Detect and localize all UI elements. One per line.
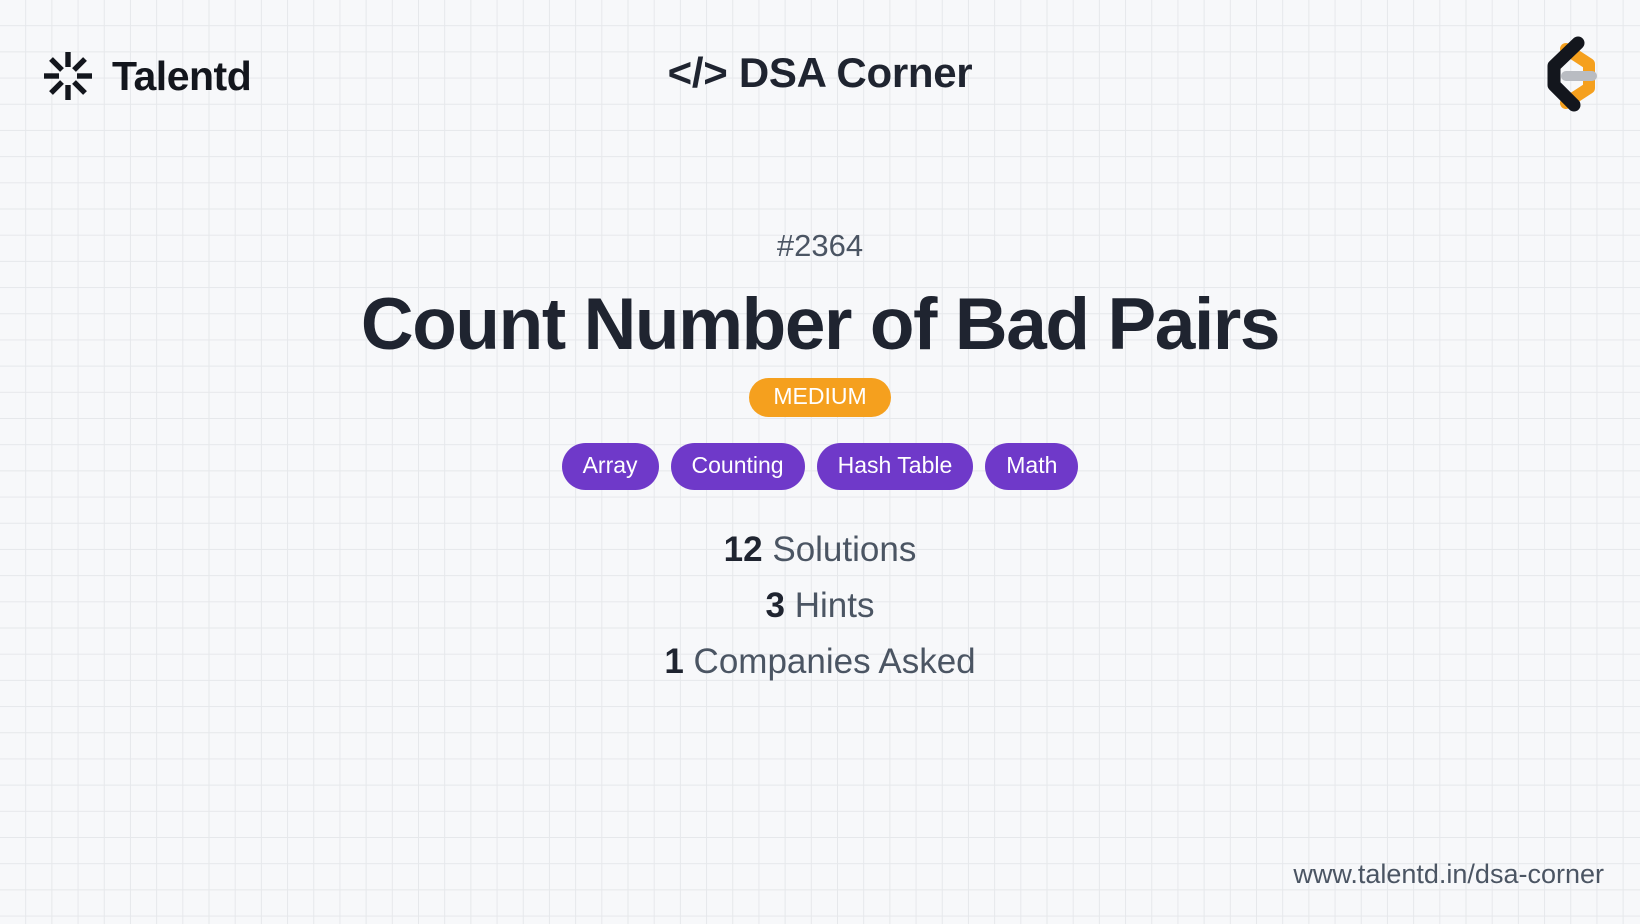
tag-pill-math[interactable]: Math: [985, 443, 1078, 490]
stat-solutions-label: Solutions: [772, 530, 916, 569]
footer-url[interactable]: www.talentd.in/dsa-corner: [1293, 861, 1604, 888]
stats-list: 12 Solutions 3 Hints 1 Companies Asked: [664, 532, 975, 679]
stat-companies-label: Companies Asked: [694, 642, 976, 681]
problem-card: #2364 Count Number of Bad Pairs MEDIUM A…: [0, 230, 1640, 679]
stat-hints-value: 3: [766, 586, 785, 625]
tag-pill-hash-table[interactable]: Hash Table: [817, 443, 974, 490]
stat-solutions-value: 12: [724, 530, 763, 569]
status-badge-difficulty: MEDIUM: [749, 378, 890, 417]
stat-solutions: 12 Solutions: [724, 532, 917, 567]
stat-companies: 1 Companies Asked: [664, 644, 975, 679]
brand-name: Talentd: [112, 56, 251, 97]
stat-hints: 3 Hints: [766, 588, 875, 623]
dsa-corner-card: Talentd </> DSA Corner #2364 Count Numbe…: [0, 0, 1640, 924]
asterisk-starburst-icon: [42, 50, 94, 102]
problem-title: Count Number of Bad Pairs: [361, 287, 1279, 364]
problem-number: #2364: [777, 230, 863, 261]
stat-hints-label: Hints: [795, 586, 875, 625]
stat-companies-value: 1: [664, 642, 683, 681]
brand-logo[interactable]: Talentd: [42, 50, 251, 102]
tag-pill-array[interactable]: Array: [562, 443, 659, 490]
tag-list: Array Counting Hash Table Math: [562, 443, 1079, 490]
tag-pill-counting[interactable]: Counting: [671, 443, 805, 490]
page-header: Talentd </> DSA Corner: [0, 0, 1640, 152]
code-chevron-logo-icon: [1526, 33, 1598, 119]
